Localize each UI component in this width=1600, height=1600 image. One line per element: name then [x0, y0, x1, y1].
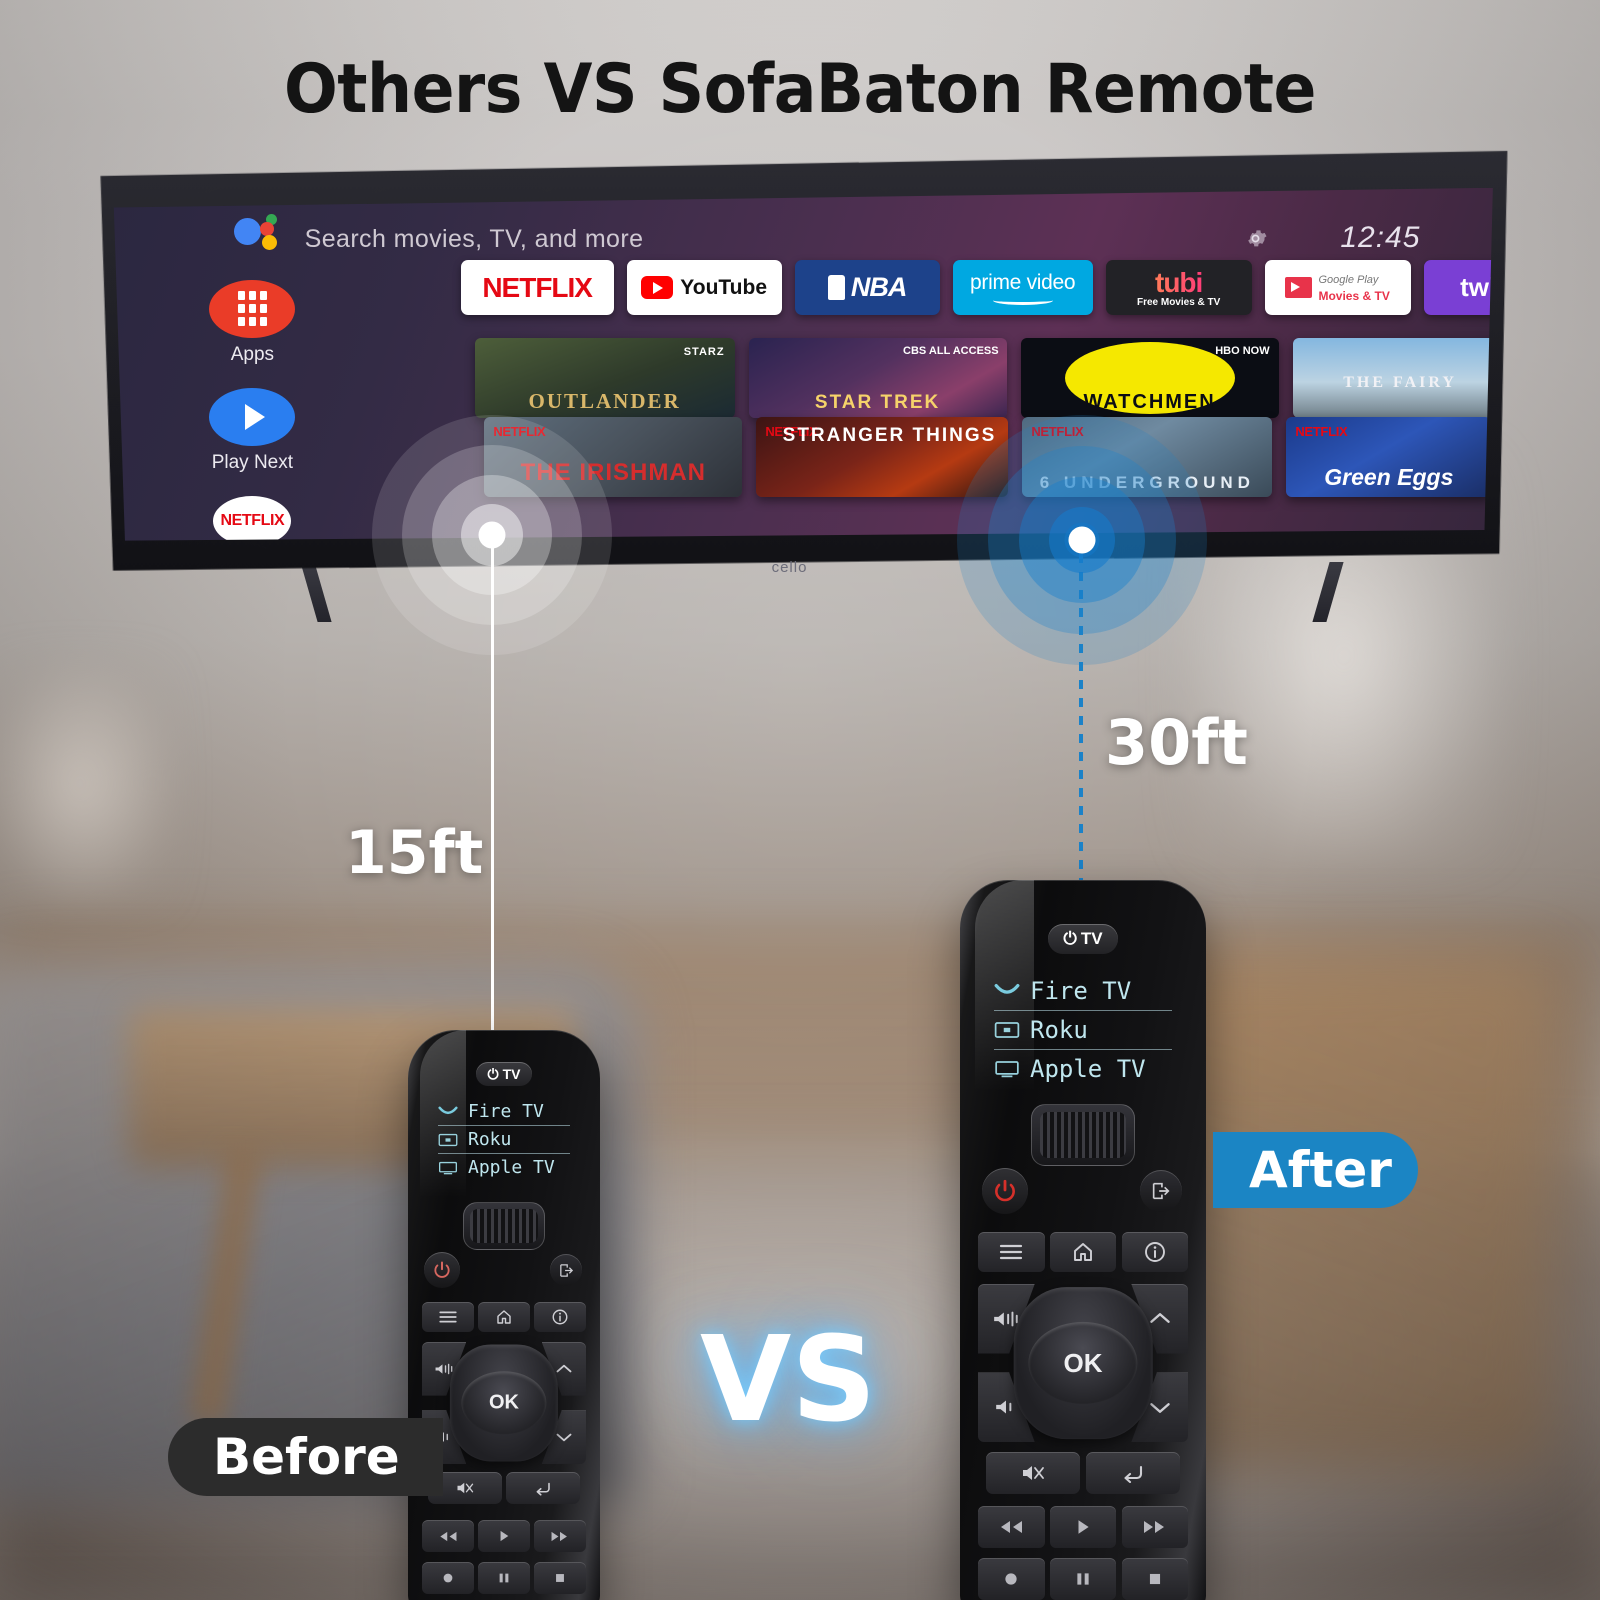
pause-button[interactable] [478, 1562, 530, 1594]
app-label-youtube: YouTube [680, 276, 767, 300]
app-label-netflix: NETFLIX [482, 272, 592, 304]
app-tile-twitch[interactable]: twitch [1424, 260, 1499, 315]
apps-grid-icon [209, 280, 295, 338]
sidebar-item-apps[interactable]: Apps [197, 280, 307, 366]
card-title: Green Eggs [1286, 464, 1491, 491]
dpad: OK [422, 1342, 586, 1464]
info-button[interactable] [534, 1302, 586, 1332]
lcd-label: Apple TV [1030, 1055, 1146, 1083]
app-tile-tubi[interactable]: tubi Free Movies & TV [1106, 260, 1252, 315]
lcd-item-fire-tv[interactable]: Fire TV [994, 972, 1172, 1011]
card-brand: STARZ [684, 346, 725, 358]
sidebar-item-netflix[interactable]: NETFLIX Netflix [197, 496, 307, 541]
card-title: WATCHMEN [1021, 391, 1279, 414]
remote-nav-row [978, 1232, 1188, 1272]
card-brand: NETFLIX [1295, 424, 1347, 439]
remote-before: ⏻TV Fire TV Roku Apple TV [408, 1030, 600, 1600]
mute-button[interactable] [986, 1452, 1080, 1494]
card-brand: HBO NOW [1215, 345, 1269, 357]
power-button[interactable] [424, 1252, 460, 1288]
lcd-item-apple-tv[interactable]: Apple TV [438, 1154, 570, 1181]
app-tile-youtube[interactable]: YouTube [627, 260, 782, 315]
play-button[interactable] [478, 1520, 530, 1552]
content-card[interactable]: THE FAIRY [1293, 338, 1499, 418]
content-card[interactable]: CBS ALL ACCESS STAR TREK [749, 338, 1007, 418]
roku-icon [438, 1133, 458, 1147]
remote-nav-row [422, 1302, 586, 1332]
power-button[interactable] [982, 1168, 1028, 1214]
distance-label-before: 15ft [345, 818, 483, 888]
info-button[interactable] [1122, 1232, 1189, 1272]
lcd-item-roku[interactable]: Roku [438, 1126, 570, 1154]
remote-mute-back-row [428, 1472, 580, 1504]
after-badge: After [1213, 1132, 1418, 1208]
dpad: OK [978, 1284, 1188, 1442]
home-button[interactable] [1050, 1232, 1117, 1272]
tv-app-row: NETFLIX YouTube NBA prime video tubi Fre… [461, 260, 1499, 315]
content-card[interactable]: NETFLIX Green Eggs [1286, 417, 1491, 497]
sidebar-item-play-next[interactable]: Play Next [197, 388, 307, 474]
tv-content-row-1: STARZ OUTLANDER CBS ALL ACCESS STAR TREK… [475, 338, 1499, 418]
roku-icon [994, 1021, 1020, 1039]
input-button[interactable] [550, 1254, 582, 1286]
app-label-nba: NBA [851, 272, 907, 303]
lcd-label: Fire TV [1030, 977, 1131, 1005]
app-sublabel-google-play: Movies & TV [1318, 289, 1389, 303]
google-assistant-icon [234, 216, 282, 250]
menu-button[interactable] [978, 1232, 1045, 1272]
tv-power-label: TV [1081, 929, 1103, 949]
amazon-smile-icon [993, 296, 1053, 305]
pause-button[interactable] [1050, 1558, 1117, 1600]
lcd-item-roku[interactable]: Roku [994, 1011, 1172, 1050]
before-badge: Before [168, 1418, 443, 1496]
lcd-label: Apple TV [468, 1157, 555, 1178]
tv-brand-logo: cello [772, 559, 808, 576]
netflix-icon: NETFLIX [213, 496, 291, 541]
lcd-item-apple-tv[interactable]: Apple TV [994, 1050, 1172, 1088]
ok-button[interactable]: OK [1028, 1322, 1137, 1404]
home-button[interactable] [478, 1302, 530, 1332]
tv-search-bar[interactable]: Search movies, TV, and more [305, 225, 644, 254]
fast-forward-button[interactable] [1122, 1506, 1189, 1548]
content-card[interactable]: HBO NOW WATCHMEN [1021, 338, 1279, 418]
lcd-label: Roku [1030, 1016, 1088, 1044]
sidebar-label-apps: Apps [197, 344, 307, 366]
sidebar-label-play-next: Play Next [197, 452, 307, 474]
content-card[interactable]: STARZ OUTLANDER [475, 338, 735, 418]
tv-sidebar: Apps Play Next NETFLIX Netflix [197, 280, 307, 541]
app-tile-prime-video[interactable]: prime video [953, 260, 1093, 315]
signal-rings-before [372, 415, 612, 655]
firetv-icon [438, 1105, 458, 1119]
play-icon [209, 388, 295, 446]
lcd-item-fire-tv[interactable]: Fire TV [438, 1098, 570, 1126]
rewind-button[interactable] [978, 1506, 1045, 1548]
app-sublabel-tubi: Free Movies & TV [1137, 297, 1220, 308]
signal-node-after [1069, 527, 1096, 554]
remote-transport-row-2 [422, 1562, 586, 1594]
appletv-icon [994, 1060, 1020, 1078]
tv-power-button[interactable]: ⏻TV [476, 1062, 532, 1086]
record-button[interactable] [422, 1562, 474, 1594]
card-title: THE FAIRY [1293, 374, 1499, 392]
page-title: Others VS SofaBaton Remote [56, 50, 1544, 129]
gear-icon[interactable] [1242, 225, 1269, 252]
vs-label: VS [700, 1310, 876, 1448]
rewind-button[interactable] [422, 1520, 474, 1552]
menu-button[interactable] [422, 1302, 474, 1332]
nba-logo-icon [828, 275, 845, 300]
google-play-movies-icon [1285, 277, 1312, 298]
stop-button[interactable] [534, 1562, 586, 1594]
remote-mute-back-row [986, 1452, 1180, 1494]
remote-transport-row-1 [978, 1506, 1188, 1548]
back-button[interactable] [506, 1472, 580, 1504]
tv-clock: 12:45 [1340, 221, 1420, 255]
television: cello Search movies, TV, and more 12:45 … [78, 150, 1523, 570]
app-tile-netflix[interactable]: NETFLIX [461, 260, 614, 315]
signal-node-before [479, 522, 506, 549]
app-label-tubi: tubi [1155, 267, 1202, 299]
remote-after: ⏻TV Fire TV Roku Apple TV [960, 880, 1206, 1600]
fast-forward-button[interactable] [534, 1520, 586, 1552]
app-label-prime-video: prime video [970, 271, 1075, 295]
tv-screen: Search movies, TV, and more 12:45 Apps P… [105, 188, 1498, 541]
card-title: STAR TREK [749, 392, 1007, 414]
card-brand: CBS ALL ACCESS [903, 345, 999, 357]
signal-rings-after [957, 415, 1207, 665]
appletv-icon [438, 1161, 458, 1175]
input-button[interactable] [1140, 1170, 1182, 1212]
remote-transport-row-2 [978, 1558, 1188, 1600]
lcd-label: Fire TV [468, 1101, 544, 1122]
scroll-wheel[interactable] [463, 1202, 545, 1250]
stop-button[interactable] [1122, 1558, 1189, 1600]
card-title: OUTLANDER [475, 389, 735, 414]
back-button[interactable] [1086, 1452, 1180, 1494]
scroll-wheel[interactable] [1031, 1104, 1135, 1166]
youtube-play-icon [641, 276, 673, 299]
record-button[interactable] [978, 1558, 1045, 1600]
remote-transport-row-1 [422, 1520, 586, 1552]
remote-lcd-screen: Fire TV Roku Apple TV [438, 1098, 570, 1181]
remote-lcd-screen: Fire TV Roku Apple TV [994, 972, 1172, 1088]
tv-power-button[interactable]: ⏻TV [1048, 924, 1118, 954]
distance-label-after: 30ft [1105, 706, 1248, 779]
app-tile-nba[interactable]: NBA [795, 260, 940, 315]
play-button[interactable] [1050, 1506, 1117, 1548]
lcd-label: Roku [468, 1129, 511, 1150]
firetv-icon [994, 982, 1020, 1000]
app-tile-google-play[interactable]: Google Play Movies & TV [1265, 260, 1411, 315]
tv-power-label: TV [503, 1066, 521, 1082]
app-label-google-play: Google Play [1318, 274, 1378, 286]
